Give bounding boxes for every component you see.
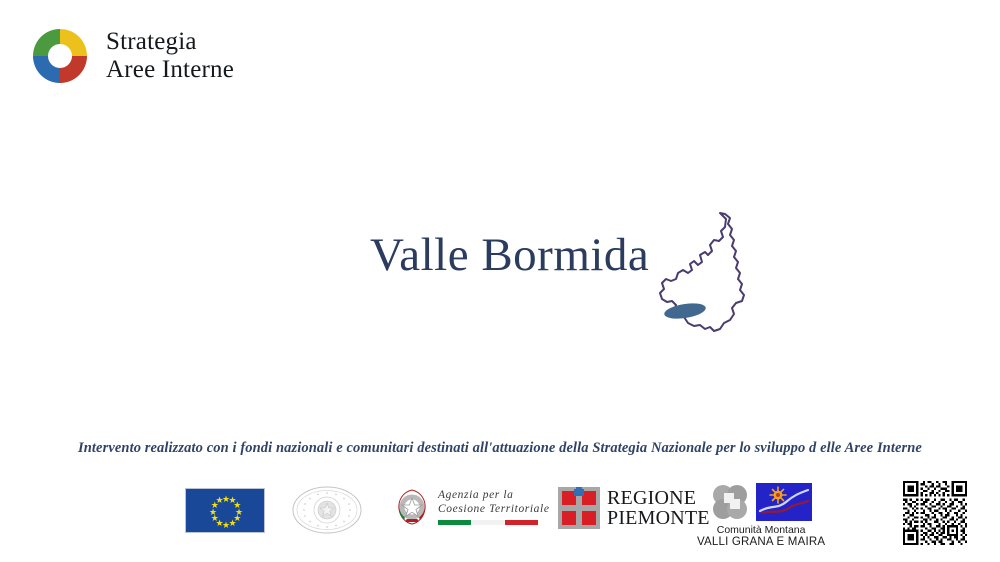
comunita-montana-logo: Comunità Montana VALLI GRANA E MAIRA [697, 482, 825, 550]
european-union-flag-icon: ★ ★ ★ ★ ★ ★ ★ ★ ★ ★ ★ ★ [185, 488, 265, 533]
piemonte-line-2: PIEMONTE [607, 508, 710, 528]
page-title: Valle Bormida [370, 228, 649, 282]
brand-logo: Strategia Aree Interne [28, 24, 234, 88]
logo-slot-comunita: Comunità Montana VALLI GRANA E MAIRA [697, 482, 825, 550]
funding-note: Intervento realizzato con i fondi nazion… [0, 440, 1000, 457]
brand-line-1: Strategia [106, 28, 234, 56]
slide-root: Strategia Aree Interne Valle Bormida Int… [0, 0, 1000, 562]
regione-piemonte-logo: REGIONE PIEMONTE [558, 487, 710, 529]
logo-slot-repubblica [290, 485, 364, 535]
brand-line-2: Aree Interne [106, 56, 234, 84]
repubblica-italiana-seal-icon [290, 485, 364, 535]
quatrefoil-icon [710, 482, 750, 522]
qr-code-icon[interactable] [903, 481, 967, 545]
piemonte-line-1: REGIONE [607, 488, 710, 508]
emblema-repubblica-italiana-icon [392, 486, 432, 528]
agenzia-wordmark: Agenzia per la Coesione Territoriale [438, 489, 550, 525]
piemonte-cross-mark-icon [558, 487, 600, 529]
valli-grana-maira-badge-icon [756, 483, 812, 521]
brand-wordmark: Strategia Aree Interne [106, 28, 234, 84]
agenzia-line-1: Agenzia per la [438, 489, 550, 501]
logo-slot-eu: ★ ★ ★ ★ ★ ★ ★ ★ ★ ★ ★ ★ [185, 488, 265, 533]
institutional-logo-strip: ★ ★ ★ ★ ★ ★ ★ ★ ★ ★ ★ ★ [0, 478, 1000, 548]
comunita-marks [710, 482, 812, 522]
agenzia-line-2: Coesione Territoriale [438, 503, 550, 515]
piemonte-wordmark: REGIONE PIEMONTE [607, 488, 710, 528]
piemonte-region-map [648, 207, 763, 347]
four-petal-circle-logo-icon [28, 24, 92, 88]
italian-tricolor-bar-icon [438, 520, 538, 525]
comunita-line-2: VALLI GRANA E MAIRA [697, 536, 825, 550]
comunita-line-1: Comunità Montana [717, 524, 806, 536]
logo-slot-qr [903, 481, 967, 545]
logo-slot-agenzia: Agenzia per la Coesione Territoriale [392, 486, 550, 528]
logo-slot-piemonte: REGIONE PIEMONTE [558, 487, 710, 529]
comunita-wordmark: Comunità Montana VALLI GRANA E MAIRA [697, 524, 825, 550]
agenzia-coesione-territoriale-logo: Agenzia per la Coesione Territoriale [392, 486, 550, 528]
